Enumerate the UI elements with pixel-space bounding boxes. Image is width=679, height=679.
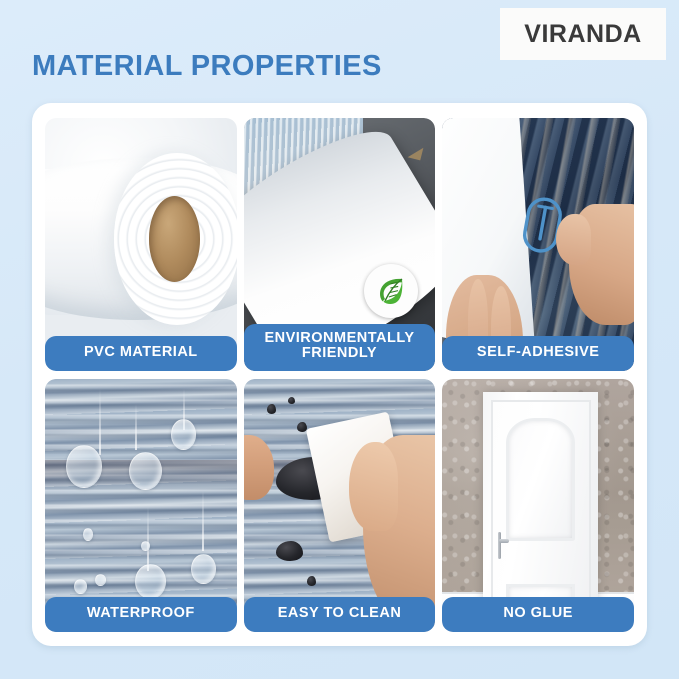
feature-tile-pvc-material[interactable]: PVC MATERIAL: [45, 118, 237, 371]
pvc-roll-photo: [45, 118, 237, 371]
door-handle-icon: [496, 532, 508, 559]
feature-label-environmentally-friendly: ENVIRONMENTALLY FRIENDLY: [244, 324, 436, 371]
self-adhesive-photo: [442, 118, 634, 371]
feature-label-pvc-material: PVC MATERIAL: [45, 336, 237, 371]
features-card: PVC MATERIAL ENVIRONMENTALL: [32, 103, 647, 646]
feature-tile-self-adhesive[interactable]: SELF-ADHESIVE: [442, 118, 634, 371]
feature-label-line-2: FRIENDLY: [302, 345, 377, 361]
feature-label-easy-to-clean: EASY TO CLEAN: [244, 597, 436, 632]
leaf-icon: [364, 264, 418, 318]
feature-label-waterproof: WATERPROOF: [45, 597, 237, 632]
feature-tile-no-glue[interactable]: NO GLUE: [442, 379, 634, 632]
feature-tile-environmentally-friendly[interactable]: ENVIRONMENTALLY FRIENDLY: [244, 118, 436, 371]
feature-tile-waterproof[interactable]: WATERPROOF: [45, 379, 237, 632]
features-grid: PVC MATERIAL ENVIRONMENTALL: [45, 118, 634, 632]
feature-label-line-1: ENVIRONMENTALLY: [264, 330, 414, 346]
brand-logo: VIRANDA: [500, 8, 666, 60]
waterproof-photo: [45, 379, 237, 632]
feature-label-no-glue: NO GLUE: [442, 597, 634, 632]
no-glue-photo: [442, 379, 634, 632]
page-title: MATERIAL PROPERTIES: [32, 50, 382, 83]
easy-to-clean-photo: [244, 379, 436, 632]
feature-tile-easy-to-clean[interactable]: EASY TO CLEAN: [244, 379, 436, 632]
brand-logo-text: VIRANDA: [524, 20, 641, 49]
feature-label-self-adhesive: SELF-ADHESIVE: [442, 336, 634, 371]
